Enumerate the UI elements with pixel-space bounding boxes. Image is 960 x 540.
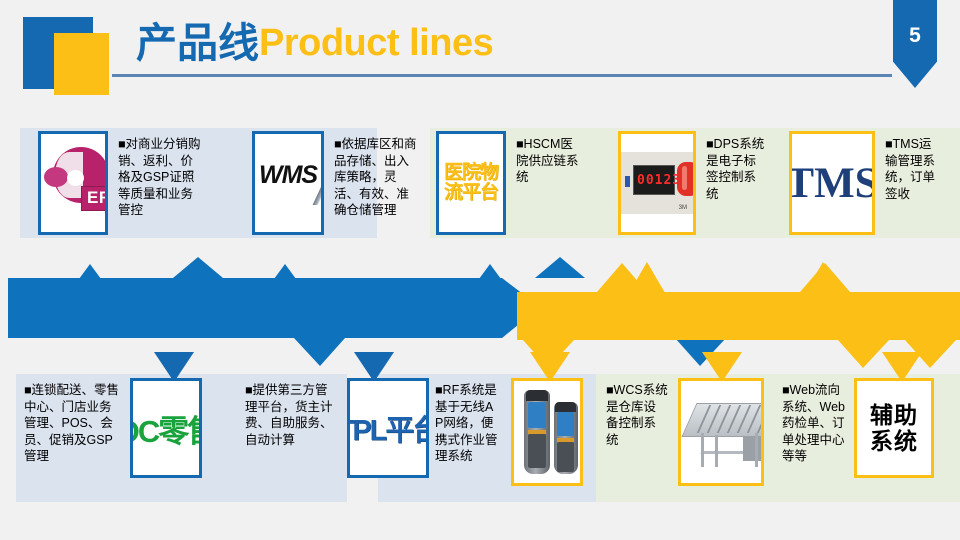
product-item-tms[interactable]: TMS ■TMS运输管理系统，订单签收: [789, 131, 937, 235]
dps-display-value: 00123: [637, 173, 681, 188]
product-item-tpl[interactable]: ■提供第三方管理平台，货主计费、自助服务、自动计算 TPL平台: [245, 378, 429, 478]
page-title-english: Product lines: [259, 24, 493, 62]
yellow-arrow-body: [517, 292, 960, 340]
wms-logo-box[interactable]: WMS: [252, 131, 324, 235]
rf-description: ■RF系统是基于无线AP网络，便携式作业管理系统: [435, 382, 501, 465]
hscm-logo-box[interactable]: 医院物流平台: [436, 131, 506, 235]
tpl-logo-box[interactable]: TPL平台: [347, 378, 429, 478]
dps-device-photo-icon: 00123 3M: [621, 152, 693, 214]
connector-up-dps: [622, 252, 672, 298]
connector-up-wms: [255, 258, 315, 298]
erp-description: ■对商业分销购销、返利、价格及GSP证照等质量和业务管控: [118, 136, 204, 219]
aux-description: ■Web流向系统、Web药检单、订单处理中心等等: [782, 382, 846, 465]
blue-spike-up-2: [535, 257, 585, 278]
product-item-hscm[interactable]: 医院物流平台 ■HSCM医院供应链系统: [436, 131, 580, 235]
connector-up-tms: [798, 252, 848, 298]
wcs-description: ■WCS系统是仓库设备控制系统: [606, 382, 668, 448]
title-underline-rule: [112, 74, 892, 77]
product-item-aux[interactable]: ■Web流向系统、Web药检单、订单处理中心等等 辅助系统: [782, 378, 934, 478]
product-item-dps[interactable]: 00123 3M ■DPS系统是电子标签控制系统: [618, 131, 768, 235]
product-item-oc-retail[interactable]: ■连锁配送、零售中心、门店业务管理、POS、会员、促销及GSP管理 OC零售: [24, 378, 202, 478]
product-item-wms[interactable]: WMS ■依据库区和商品存储、出入库策略，灵活、有效、准确仓储管理: [252, 131, 420, 235]
hscm-description: ■HSCM医院供应链系统: [516, 136, 580, 186]
aux-system-logo-text: 辅助系统: [870, 402, 918, 455]
wms-description: ■依据库区和商品存储、出入库策略，灵活、有效、准确仓储管理: [334, 136, 420, 219]
rf-logo-box[interactable]: [511, 378, 583, 486]
header-decor-yellow-square: [54, 33, 109, 95]
tms-description: ■TMS运输管理系统，订单签收: [885, 136, 937, 202]
wcs-logo-box[interactable]: [678, 378, 764, 486]
tms-logo-text: TMS: [789, 159, 875, 208]
rf-scanner-photo-icon: [514, 386, 580, 478]
wms-logo-icon: WMS: [255, 153, 321, 213]
slide-canvas: 产品线 Product lines 5: [0, 0, 960, 540]
oc-retail-logo-text: OC零售: [130, 406, 202, 451]
tpl-description: ■提供第三方管理平台，货主计费、自助服务、自动计算: [245, 382, 337, 448]
blue-spike-up-1: [173, 257, 223, 278]
erp-logo-box[interactable]: ERP: [38, 131, 108, 235]
aux-logo-box[interactable]: 辅助系统: [854, 378, 934, 478]
oc-retail-description: ■连锁配送、零售中心、门店业务管理、POS、会员、促销及GSP管理: [24, 382, 120, 465]
tms-logo-box[interactable]: TMS: [789, 131, 875, 235]
erp-logo-text: ERP: [81, 186, 108, 211]
tpl-logo-text: TPL平台: [347, 407, 429, 449]
product-item-erp[interactable]: ERP ■对商业分销购销、返利、价格及GSP证照等质量和业务管控: [38, 131, 204, 235]
page-number-badge: 5: [893, 0, 937, 88]
connector-up-erp: [60, 258, 120, 298]
product-item-rf[interactable]: ■RF系统是基于无线AP网络，便携式作业管理系统: [435, 378, 583, 486]
dps-logo-box[interactable]: 00123 3M: [618, 131, 696, 235]
oc-retail-logo-box[interactable]: OC零售: [130, 378, 202, 478]
blue-spike-down-1: [294, 338, 345, 366]
dps-description: ■DPS系统是电子标签控制系统: [706, 136, 768, 202]
product-item-wcs[interactable]: ■WCS系统是仓库设备控制系统: [606, 378, 764, 486]
erp-logo-icon: ERP: [41, 141, 105, 225]
page-title: 产品线 Product lines: [136, 12, 896, 74]
connector-up-hscm: [460, 258, 520, 298]
hscm-logo-text: 医院物流平台: [439, 163, 503, 203]
page-title-chinese: 产品线: [136, 23, 259, 64]
conveyor-photo-icon: [681, 393, 761, 471]
